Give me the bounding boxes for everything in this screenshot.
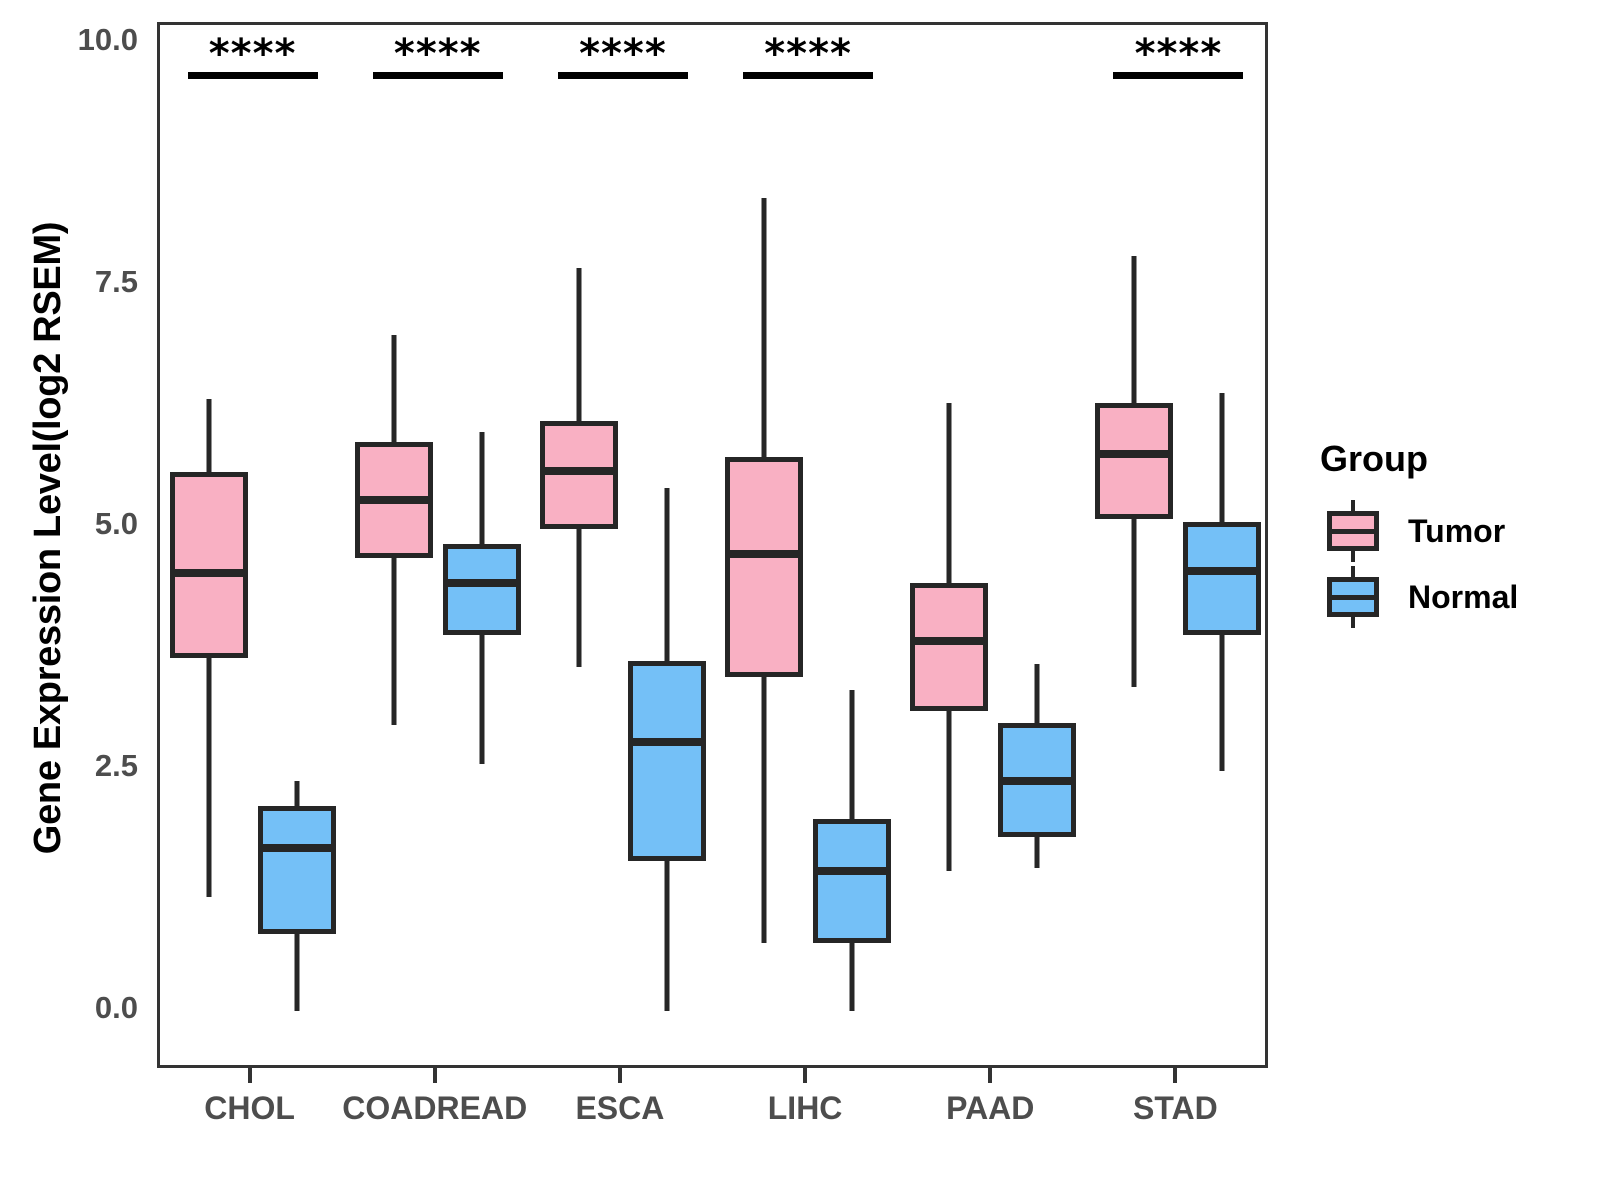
plot-panel: ******************** — [157, 22, 1268, 1068]
significance-annotation: **** — [558, 41, 688, 79]
boxplot-median-line — [540, 467, 618, 475]
boxplot-box — [1183, 522, 1261, 635]
boxplot-box — [910, 583, 988, 711]
x-tick-label-stad: STAD — [1133, 1090, 1218, 1127]
legend: Group TumorNormal — [1320, 438, 1590, 630]
y-axis: 10.07.55.02.50.0 — [28, 0, 138, 1200]
boxplot-box — [1095, 403, 1173, 519]
boxplot-box — [443, 544, 521, 635]
legend-item-tumor[interactable]: Tumor — [1320, 498, 1590, 564]
x-tick-mark — [248, 1068, 252, 1083]
boxplot-figure: Gene Expression Level(log2 RSEM) 10.07.5… — [0, 0, 1600, 1200]
boxplot-median-line — [998, 777, 1076, 785]
legend-whisker-bottom — [1351, 616, 1355, 628]
y-tick-label: 5.0 — [38, 506, 138, 542]
x-tick-mark — [988, 1068, 992, 1083]
boxplot-median-line — [170, 569, 248, 577]
boxplot-box — [628, 661, 706, 861]
x-tick-mark — [618, 1068, 622, 1083]
boxplot-median-line — [1095, 450, 1173, 458]
boxplot-box — [725, 457, 803, 677]
legend-label: Tumor — [1408, 513, 1505, 550]
x-tick-label-coadread: COADREAD — [342, 1090, 527, 1127]
x-tick-label-esca: ESCA — [575, 1090, 664, 1127]
plot-area: ******************** — [160, 25, 1265, 1065]
boxplot-median-line — [355, 496, 433, 504]
legend-item-normal[interactable]: Normal — [1320, 564, 1590, 630]
y-tick-label: 7.5 — [38, 264, 138, 300]
significance-stars: **** — [743, 41, 873, 67]
x-tick-label-chol: CHOL — [204, 1090, 295, 1127]
legend-title: Group — [1320, 438, 1590, 480]
significance-stars: **** — [373, 41, 503, 67]
y-tick-label: 2.5 — [38, 748, 138, 784]
boxplot-box — [258, 806, 336, 934]
y-tick-label: 10.0 — [38, 22, 138, 58]
x-tick-mark — [1173, 1068, 1177, 1083]
significance-annotation: **** — [373, 41, 503, 79]
legend-key-icon — [1320, 500, 1386, 562]
significance-annotation: **** — [1113, 41, 1243, 79]
legend-label: Normal — [1408, 579, 1518, 616]
legend-items: TumorNormal — [1320, 498, 1590, 630]
boxplot-median-line — [628, 738, 706, 746]
x-tick-label-lihc: LIHC — [768, 1090, 843, 1127]
x-tick-label-paad: PAAD — [946, 1090, 1034, 1127]
significance-stars: **** — [558, 41, 688, 67]
legend-key-icon — [1320, 566, 1386, 628]
boxplot-box — [170, 472, 248, 658]
significance-stars: **** — [188, 41, 318, 67]
legend-median-line — [1327, 595, 1379, 600]
significance-stars: **** — [1113, 41, 1243, 67]
y-tick-label: 0.0 — [38, 990, 138, 1026]
boxplot-median-line — [813, 867, 891, 875]
boxplot-median-line — [443, 579, 521, 587]
boxplot-median-line — [258, 844, 336, 852]
boxplot-median-line — [1183, 567, 1261, 575]
legend-whisker-bottom — [1351, 550, 1355, 562]
boxplot-median-line — [725, 550, 803, 558]
significance-annotation: **** — [188, 41, 318, 79]
boxplot-box — [813, 819, 891, 943]
legend-median-line — [1327, 529, 1379, 534]
x-tick-mark — [803, 1068, 807, 1083]
significance-annotation: **** — [743, 41, 873, 79]
x-tick-mark — [433, 1068, 437, 1083]
boxplot-median-line — [910, 637, 988, 645]
